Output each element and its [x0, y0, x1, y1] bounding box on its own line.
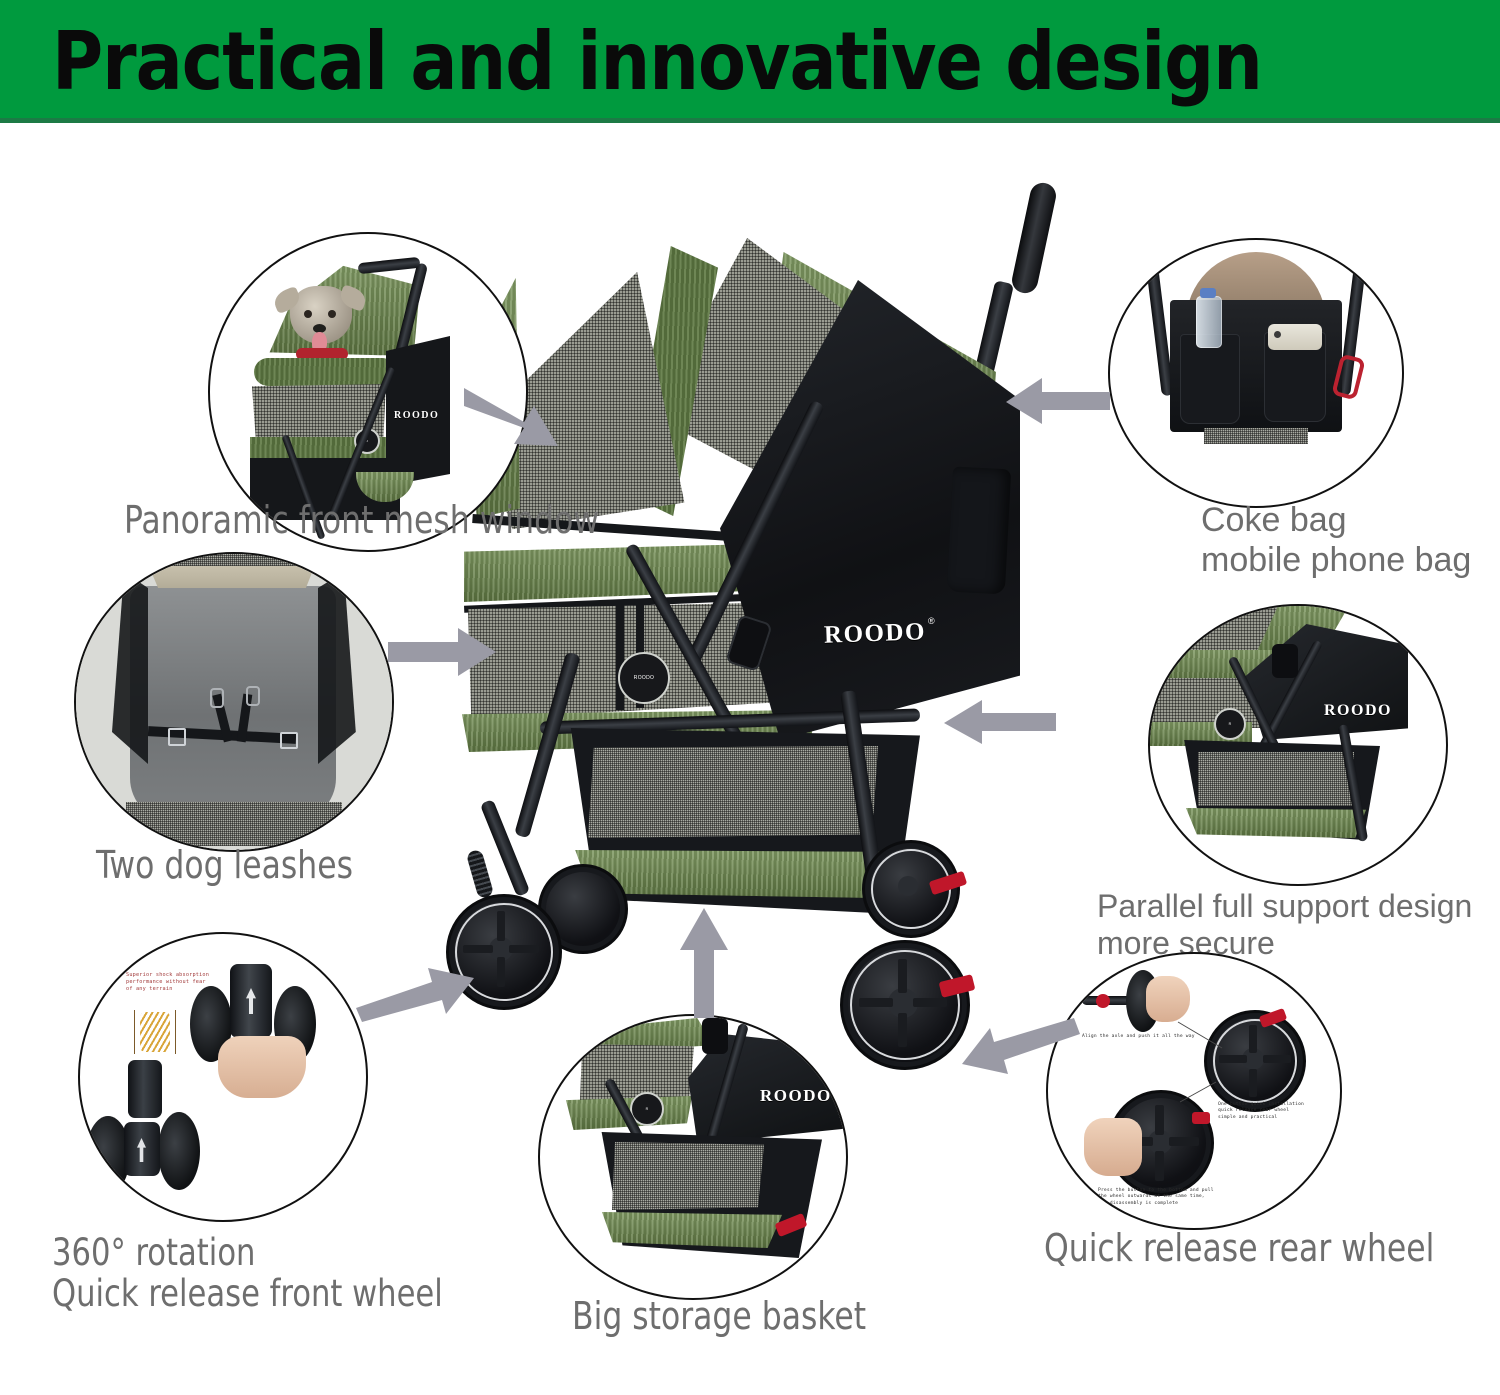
- front-wheel-spoke: [497, 957, 505, 987]
- feature-circle-storage-basket[interactable]: ROODO R: [538, 1014, 848, 1300]
- ps-frame-joint: [1272, 644, 1298, 678]
- header-banner-shadow: [0, 118, 1500, 123]
- sb-frame-joint: [702, 1018, 728, 1054]
- rear-wheel-spoke: [859, 998, 893, 1007]
- leash-clip-right-icon: [246, 686, 260, 706]
- sb-mesh-top: [580, 1044, 694, 1100]
- ps-logo-text: ROODO: [1324, 702, 1392, 720]
- feature-circle-rear-wheel[interactable]: Align the axle and push it all the way O…: [1046, 952, 1342, 1230]
- interior-pad: [130, 586, 336, 822]
- handle-grip: [1010, 181, 1059, 296]
- front-wheel-spoke: [509, 945, 539, 953]
- sb-logo-text: ROODO: [760, 1086, 832, 1106]
- wheel-pair-lower-right: [158, 1112, 200, 1190]
- interior-mesh-top: [166, 552, 296, 566]
- feature-circle-two-dog-leashes[interactable]: [74, 552, 394, 852]
- arrow-leashes: [388, 628, 498, 688]
- rear-wheel-spoke: [913, 998, 947, 1007]
- caption-coke-bag: Coke bag mobile phone bag: [1201, 500, 1471, 580]
- page-title: Practical and innovative design: [52, 6, 1410, 116]
- rear-wheel-spoke: [898, 1013, 907, 1047]
- feature-circle-front-wheel[interactable]: Superior shock absorption performance wi…: [78, 932, 368, 1222]
- caption-storage-basket: Big storage basket: [572, 1296, 866, 1336]
- ps-roodo-badge-icon: R: [1214, 708, 1246, 740]
- arrow-coke-bag: [1006, 378, 1110, 434]
- caption-panoramic-window: Panoramic front mesh window: [124, 500, 599, 540]
- leash-buckle-right-icon: [280, 732, 298, 749]
- rear-wheel-far-hub: [898, 876, 918, 896]
- arrow-parallel: [944, 700, 1056, 752]
- interior-side-right: [318, 572, 360, 772]
- sb-basket-trim: [602, 1212, 782, 1248]
- ps-basket-trim: [1186, 808, 1366, 838]
- mini-handle-top: [358, 257, 421, 274]
- badge-label: ROODO: [634, 675, 654, 681]
- roodo-badge-icon: ROODO: [618, 652, 670, 704]
- phone-camera-icon: [1274, 331, 1281, 338]
- mini-logo-text: ROODO: [394, 410, 439, 421]
- leash-buckle-icon: [168, 728, 186, 746]
- rw-leader-lines: [1046, 952, 1342, 1230]
- interior-side-left: [108, 572, 148, 772]
- main-product-image: ROODO ® ROODO: [420, 150, 1080, 1110]
- mini-front-rail: [254, 358, 396, 386]
- bag-bottom-mesh: [1204, 428, 1308, 444]
- arrow-panoramic: [462, 370, 572, 460]
- sb-basket-mesh: [612, 1142, 764, 1210]
- rear-wheel-spoke: [898, 959, 907, 993]
- basket-mesh-panel: [588, 746, 878, 838]
- rear-wheel-near: [840, 940, 970, 1070]
- ps-basket-mesh: [1198, 752, 1354, 806]
- hand-upper: [218, 1036, 306, 1098]
- side-pouch: [947, 467, 1011, 595]
- sb-badge-label: R: [646, 1107, 649, 1111]
- caption-two-dog-leashes: Two dog leashes: [96, 845, 353, 885]
- arrow-basket: [674, 908, 734, 1020]
- axle-post-detached: [128, 1060, 162, 1118]
- spring-outline-icon: [134, 1010, 176, 1054]
- front-fork-spring: [466, 849, 495, 900]
- ps-badge-label: R: [1229, 722, 1232, 726]
- water-bottle: [1196, 296, 1222, 348]
- bottle-cap-icon: [1200, 288, 1216, 298]
- feature-circle-coke-bag[interactable]: [1108, 238, 1404, 508]
- arrow-front-wheel: [356, 962, 476, 1024]
- front-wheel-spoke: [497, 911, 505, 941]
- dog-eye-left: [304, 310, 312, 318]
- leash-clip-left-icon: [210, 688, 224, 708]
- logo-registered-mark: ®: [928, 616, 935, 626]
- product-logo-text: ROODO: [824, 618, 927, 650]
- interior-bottom-band: [126, 802, 342, 846]
- caption-rear-wheel: Quick release rear wheel: [1044, 1228, 1434, 1268]
- caption-parallel-support: Parallel full support design more secure: [1097, 888, 1472, 962]
- feature-circle-parallel-support[interactable]: ROODO R: [1148, 604, 1448, 886]
- arrow-rear-wheel: [960, 1012, 1080, 1074]
- front-wheel-spoke: [463, 945, 493, 953]
- dog-eye-right: [328, 310, 336, 318]
- caption-front-wheel: 360° rotation Quick release front wheel: [52, 1232, 443, 1315]
